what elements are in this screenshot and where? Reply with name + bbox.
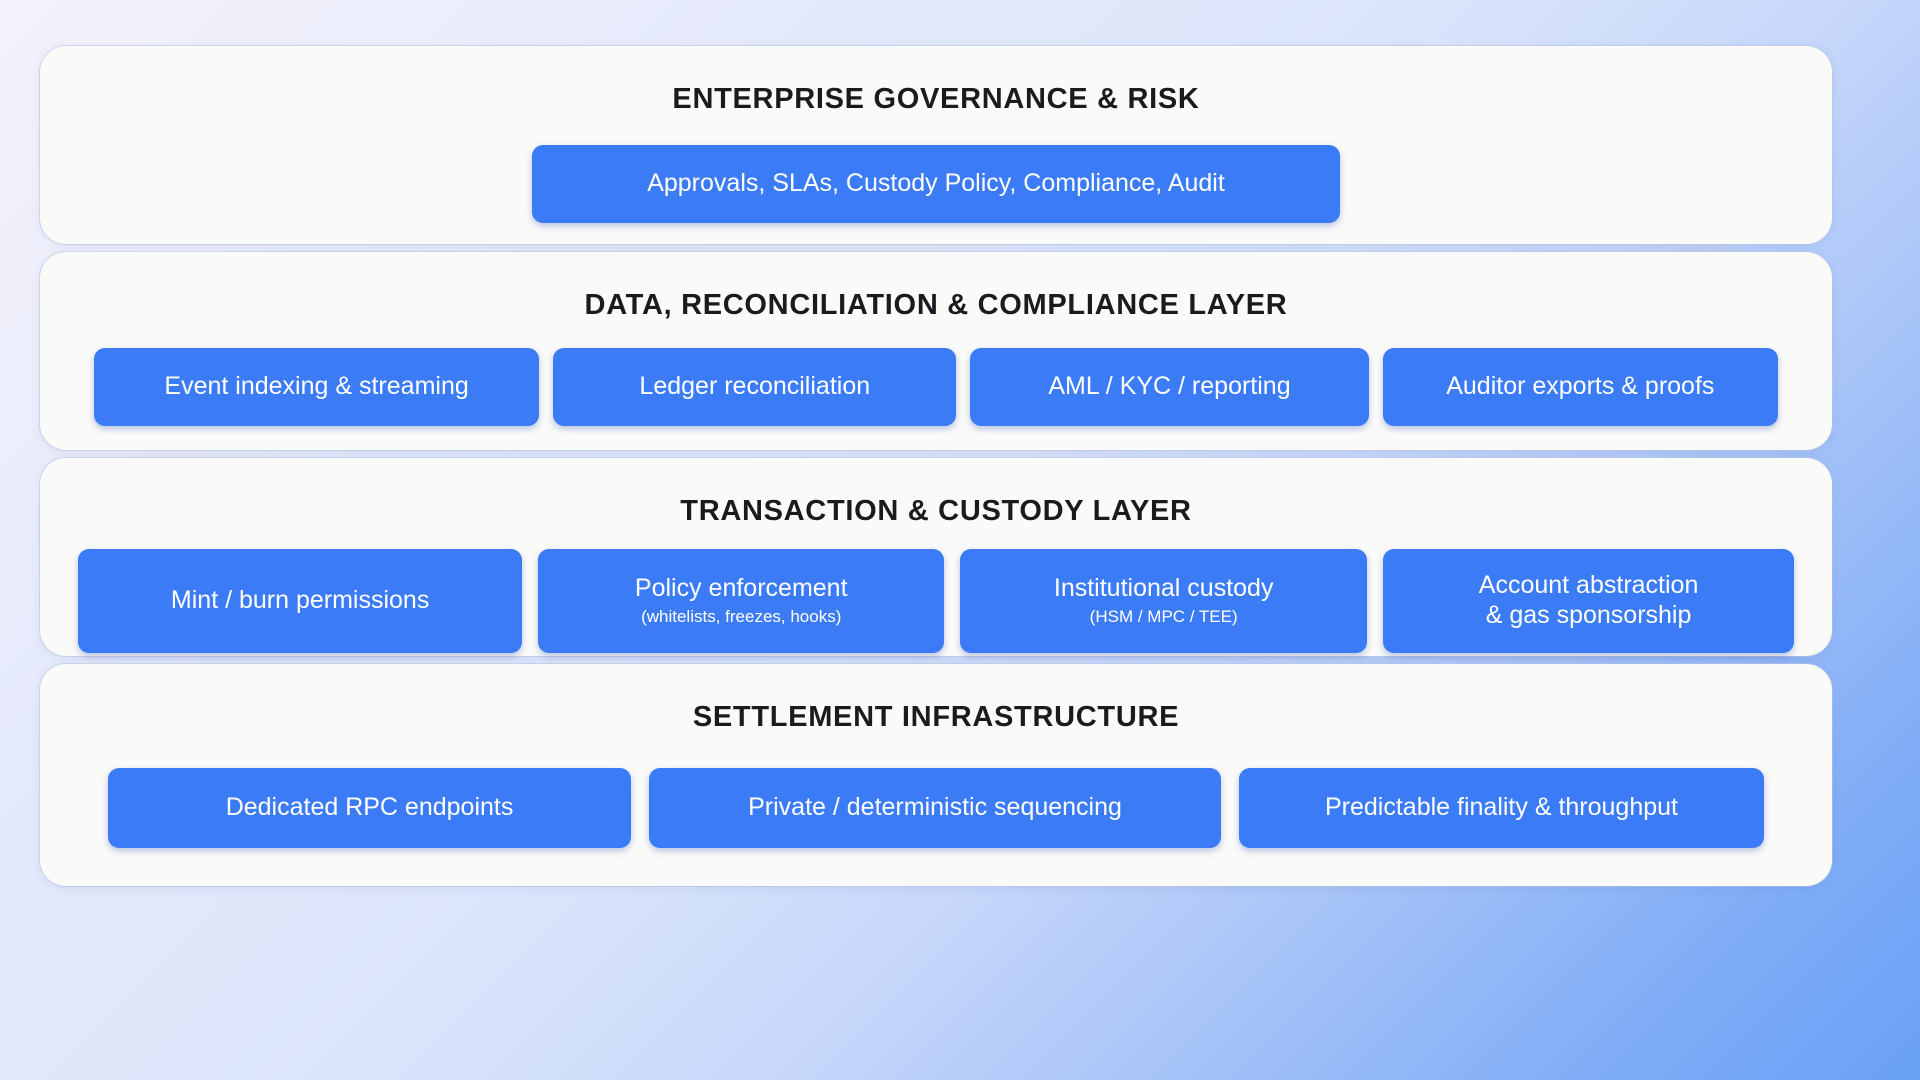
chip-label: Institutional custody: [1054, 574, 1274, 604]
chip-label: Predictable finality & throughput: [1325, 793, 1678, 823]
chip-label: Policy enforcement: [635, 574, 848, 604]
chip-account-abstraction-gas-sponsorship[interactable]: Account abstraction & gas sponsorship: [1383, 549, 1794, 653]
layer-title: DATA, RECONCILIATION & COMPLIANCE LAYER: [585, 290, 1288, 322]
chip-predictable-finality-throughput[interactable]: Predictable finality & throughput: [1239, 768, 1764, 848]
chip-aml-kyc-reporting[interactable]: AML / KYC / reporting: [970, 348, 1368, 426]
layer-title: ENTERPRISE GOVERNANCE & RISK: [672, 84, 1199, 116]
layer-data-reconciliation-compliance: DATA, RECONCILIATION & COMPLIANCE LAYER …: [40, 252, 1832, 450]
chip-dedicated-rpc-endpoints[interactable]: Dedicated RPC endpoints: [108, 768, 631, 848]
chip-private-deterministic-sequencing[interactable]: Private / deterministic sequencing: [649, 768, 1221, 848]
chip-label: Approvals, SLAs, Custody Policy, Complia…: [647, 169, 1225, 199]
chip-label: AML / KYC / reporting: [1048, 372, 1290, 402]
chip-label: Auditor exports & proofs: [1446, 372, 1714, 402]
architecture-stack: ENTERPRISE GOVERNANCE & RISK Approvals, …: [40, 46, 1832, 1048]
chip-row: Event indexing & streaming Ledger reconc…: [40, 348, 1832, 426]
chip-approvals-slas-custody-policy-compliance-audit[interactable]: Approvals, SLAs, Custody Policy, Complia…: [532, 145, 1340, 223]
chip-row: Approvals, SLAs, Custody Policy, Complia…: [40, 145, 1832, 223]
chip-label: Event indexing & streaming: [164, 372, 468, 402]
chip-label: Dedicated RPC endpoints: [226, 793, 514, 823]
chip-label: Mint / burn permissions: [171, 586, 429, 616]
chip-mint-burn-permissions[interactable]: Mint / burn permissions: [78, 549, 522, 653]
layer-enterprise-governance-risk: ENTERPRISE GOVERNANCE & RISK Approvals, …: [40, 46, 1832, 244]
layer-settlement-infrastructure: SETTLEMENT INFRASTRUCTURE Dedicated RPC …: [40, 664, 1832, 886]
chip-policy-enforcement[interactable]: Policy enforcement (whitelists, freezes,…: [538, 549, 944, 653]
layer-title: TRANSACTION & CUSTODY LAYER: [680, 496, 1191, 528]
chip-label: Private / deterministic sequencing: [748, 793, 1122, 823]
chip-sublabel: (HSM / MPC / TEE): [1090, 607, 1238, 627]
chip-sublabel: (whitelists, freezes, hooks): [641, 607, 841, 627]
chip-auditor-exports-proofs[interactable]: Auditor exports & proofs: [1383, 348, 1778, 426]
chip-institutional-custody[interactable]: Institutional custody (HSM / MPC / TEE): [960, 549, 1367, 653]
chip-row: Mint / burn permissions Policy enforceme…: [40, 549, 1832, 653]
chip-event-indexing-streaming[interactable]: Event indexing & streaming: [94, 348, 539, 426]
chip-label: Ledger reconciliation: [639, 372, 870, 402]
chip-label: Account abstraction & gas sponsorship: [1479, 571, 1699, 630]
layer-title: SETTLEMENT INFRASTRUCTURE: [693, 702, 1179, 734]
chip-ledger-reconciliation[interactable]: Ledger reconciliation: [553, 348, 956, 426]
layer-transaction-custody: TRANSACTION & CUSTODY LAYER Mint / burn …: [40, 458, 1832, 656]
chip-row: Dedicated RPC endpoints Private / determ…: [40, 768, 1832, 848]
